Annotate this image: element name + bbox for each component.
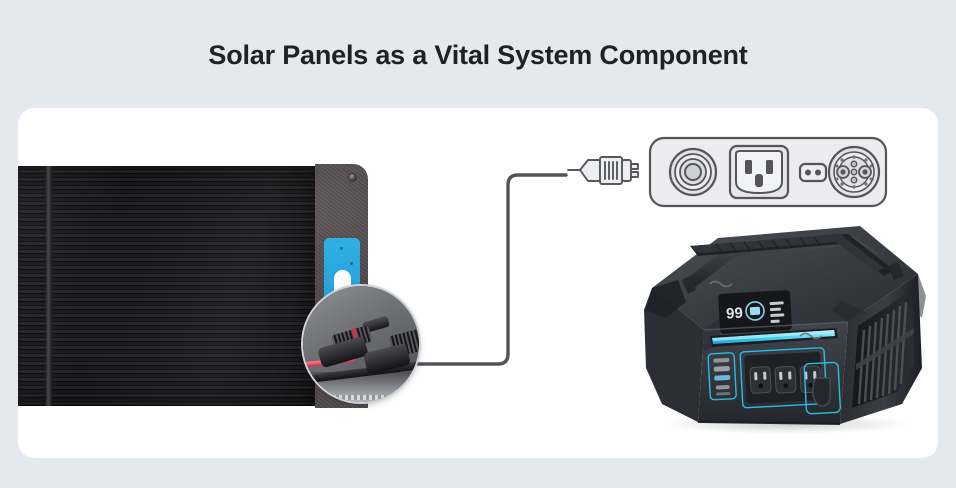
ac-outlet xyxy=(750,366,771,393)
zoom-inset-texture-band xyxy=(303,395,419,400)
solar-panel-screw xyxy=(349,174,356,181)
ac-outlet xyxy=(775,366,796,393)
mc4-male-connector xyxy=(317,336,369,368)
dc-plug-barrel xyxy=(600,157,622,184)
battery-icon-fill xyxy=(750,307,760,316)
solar-panel-fold-seam xyxy=(46,166,52,406)
kickstand-rivet xyxy=(340,247,343,250)
screenshot-root: Solar Panels as a Vital System Component xyxy=(0,0,956,488)
port-panel-icon xyxy=(648,136,888,208)
dc-plug-pin-top xyxy=(631,164,638,169)
illustration-card: 99 xyxy=(18,108,938,458)
dc-cable-line xyxy=(416,175,566,364)
dc-input-port-icon xyxy=(670,149,716,195)
power-station-shadow xyxy=(662,414,912,434)
portable-power-station: 99 xyxy=(626,218,938,448)
two-pin-port-icon xyxy=(800,164,826,181)
dc-plug-strain-relief xyxy=(568,160,600,181)
mc4-connector-zoom-inset xyxy=(303,286,419,402)
solar-panel-cell-face xyxy=(18,166,315,406)
ac-outlet-port-icon xyxy=(730,146,788,198)
page-title: Solar Panels as a Vital System Component xyxy=(0,40,956,71)
kickstand-rivet xyxy=(350,262,353,265)
dc-plug-pin-bottom xyxy=(631,172,638,177)
dc-plug-icon xyxy=(566,146,654,196)
car-socket-recess xyxy=(813,378,830,406)
dc-plug-collar xyxy=(622,160,631,181)
aviation-port-icon xyxy=(829,147,879,197)
battery-percent-value: 99 xyxy=(726,305,744,323)
